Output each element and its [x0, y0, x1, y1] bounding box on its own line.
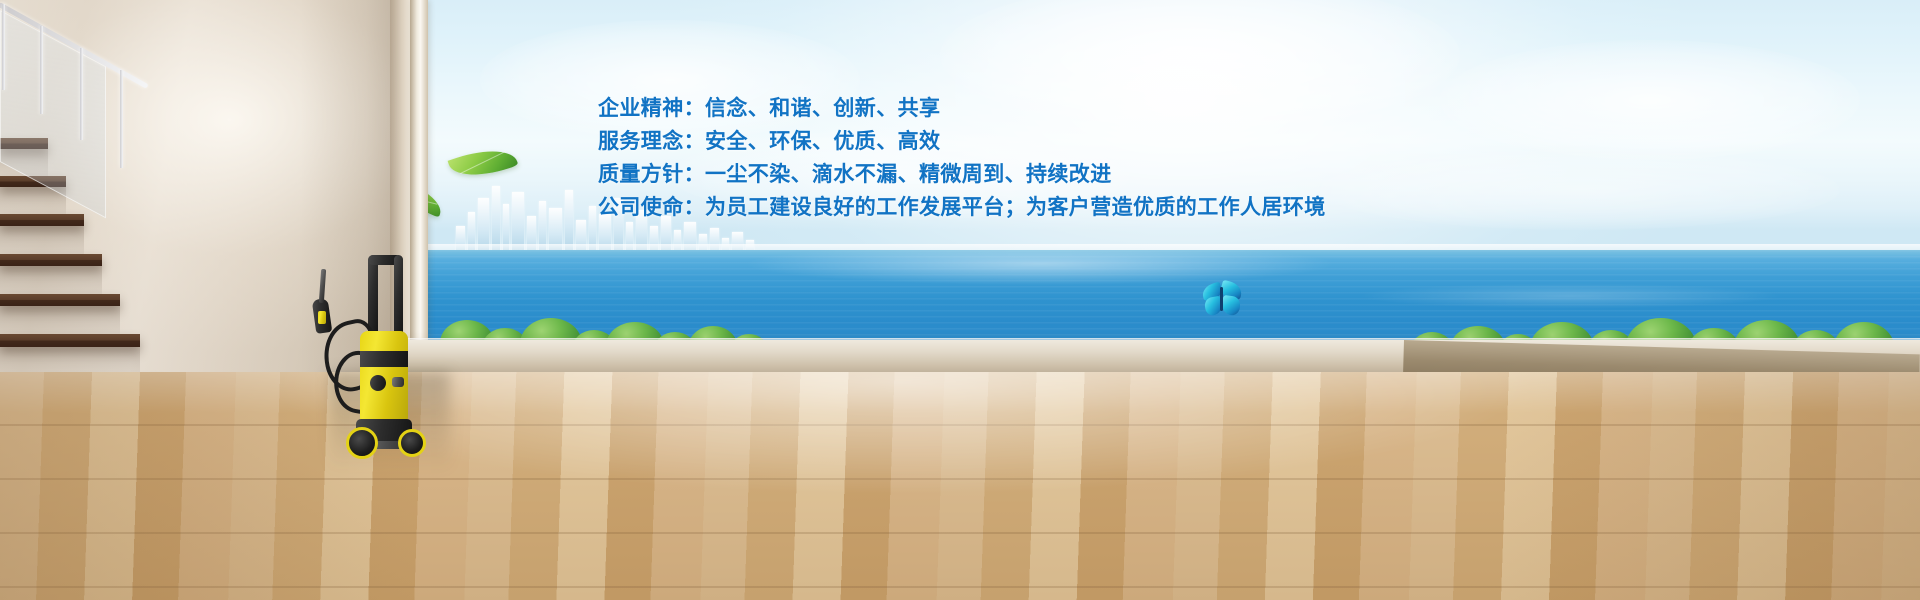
wood-floor [0, 372, 1920, 600]
mission-line-4: 公司使命：为员工建设良好的工作发展平台；为客户营造优质的工作人居环境 [598, 191, 1518, 224]
washer-outlet [392, 377, 404, 387]
stair-step [0, 254, 102, 266]
mission-line-3: 质量方针：一尘不染、滴水不漏、精微周到、持续改进 [598, 158, 1518, 191]
washer-wheel [398, 429, 426, 457]
stair-step [0, 334, 140, 347]
washer-control-knob [370, 375, 386, 391]
spray-lance [319, 269, 326, 303]
floor-sheen [0, 372, 1920, 600]
handrail-post [40, 26, 43, 114]
washer-handle [368, 255, 378, 333]
spray-gun-trigger [318, 311, 326, 324]
marketing-banner: 企业精神：信念、和谐、创新、共享 服务理念：安全、环保、优质、高效 质量方针：一… [0, 0, 1920, 600]
handrail-post [120, 70, 123, 168]
mission-line-1: 企业精神：信念、和谐、创新、共享 [598, 92, 1518, 125]
handrail-post [2, 4, 5, 90]
stair-riser [0, 226, 84, 254]
washer-body-panel [360, 351, 408, 367]
butterfly-icon [1202, 282, 1242, 326]
mission-statement-block: 企业精神：信念、和谐、创新、共享 服务理念：安全、环保、优质、高效 质量方针：一… [598, 92, 1518, 224]
stair-step [0, 294, 120, 306]
handrail-post [80, 48, 83, 140]
stair-riser [0, 306, 120, 334]
washer-wheel [346, 427, 378, 459]
washer-handle [394, 255, 403, 335]
mission-line-2: 服务理念：安全、环保、优质、高效 [598, 125, 1518, 158]
stair-step [0, 214, 84, 226]
stair-riser [0, 347, 140, 375]
stair-riser [0, 266, 102, 294]
pressure-washer [310, 255, 420, 460]
